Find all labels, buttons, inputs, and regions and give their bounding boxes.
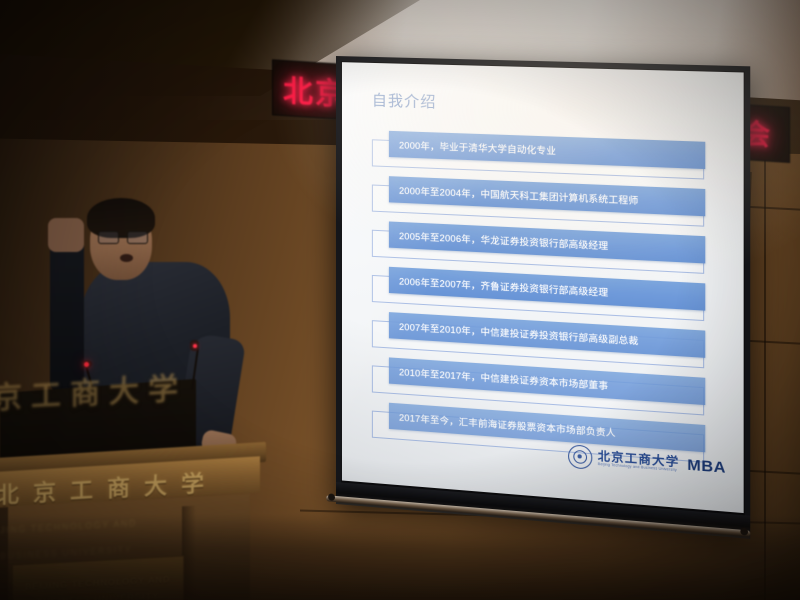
glasses-left-lens <box>98 231 119 244</box>
program-label-mba: MBA <box>687 456 726 477</box>
speaker-glasses-icon <box>97 231 151 244</box>
bullet-text: 2000年，毕业于清华大学自动化专业 <box>399 137 556 157</box>
speaker-neck <box>48 218 84 252</box>
slide-bullet-list: 2000年，毕业于清华大学自动化专业 2000年至2004年，中国航天科工集团计… <box>372 128 720 465</box>
bullet-text: 2006年至2007年，齐鲁证券投资银行部高级经理 <box>399 273 608 299</box>
glasses-right-lens <box>127 231 148 244</box>
roller-knob-left <box>328 493 335 501</box>
screen-surface: 自我介绍 2000年，毕业于清华大学自动化专业 2000年至2004年，中国航天… <box>342 62 744 513</box>
university-name-block: 北京工商大学 Beijing Technology and Business U… <box>598 450 680 472</box>
glasses-bridge <box>119 236 128 238</box>
slide-bullet-row: 2000年，毕业于清华大学自动化专业 <box>372 128 720 181</box>
presentation-slide: 自我介绍 2000年，毕业于清华大学自动化专业 2000年至2004年，中国航天… <box>342 62 744 513</box>
microphone-indicator-light-right <box>193 344 197 348</box>
slide-title: 自我介绍 <box>372 89 720 121</box>
projection-screen: 自我介绍 2000年，毕业于清华大学自动化专业 2000年至2004年，中国航天… <box>336 56 750 539</box>
lecture-hall-photo: 北京 大会 自我介绍 2000年，毕业于清华大学自动化专业 <box>0 0 800 600</box>
microphone-indicator-light-left <box>84 362 89 367</box>
speaker-shirt <box>50 240 84 390</box>
bullet-text: 2000年至2004年，中国航天科工集团计算机系统工程师 <box>399 183 638 207</box>
speaker-mouth <box>120 254 133 262</box>
university-seal-icon <box>568 444 592 470</box>
bullet-text: 2005年至2006年，华龙证券投资银行部高级经理 <box>399 228 608 252</box>
foreground-shadow-band <box>0 514 800 600</box>
